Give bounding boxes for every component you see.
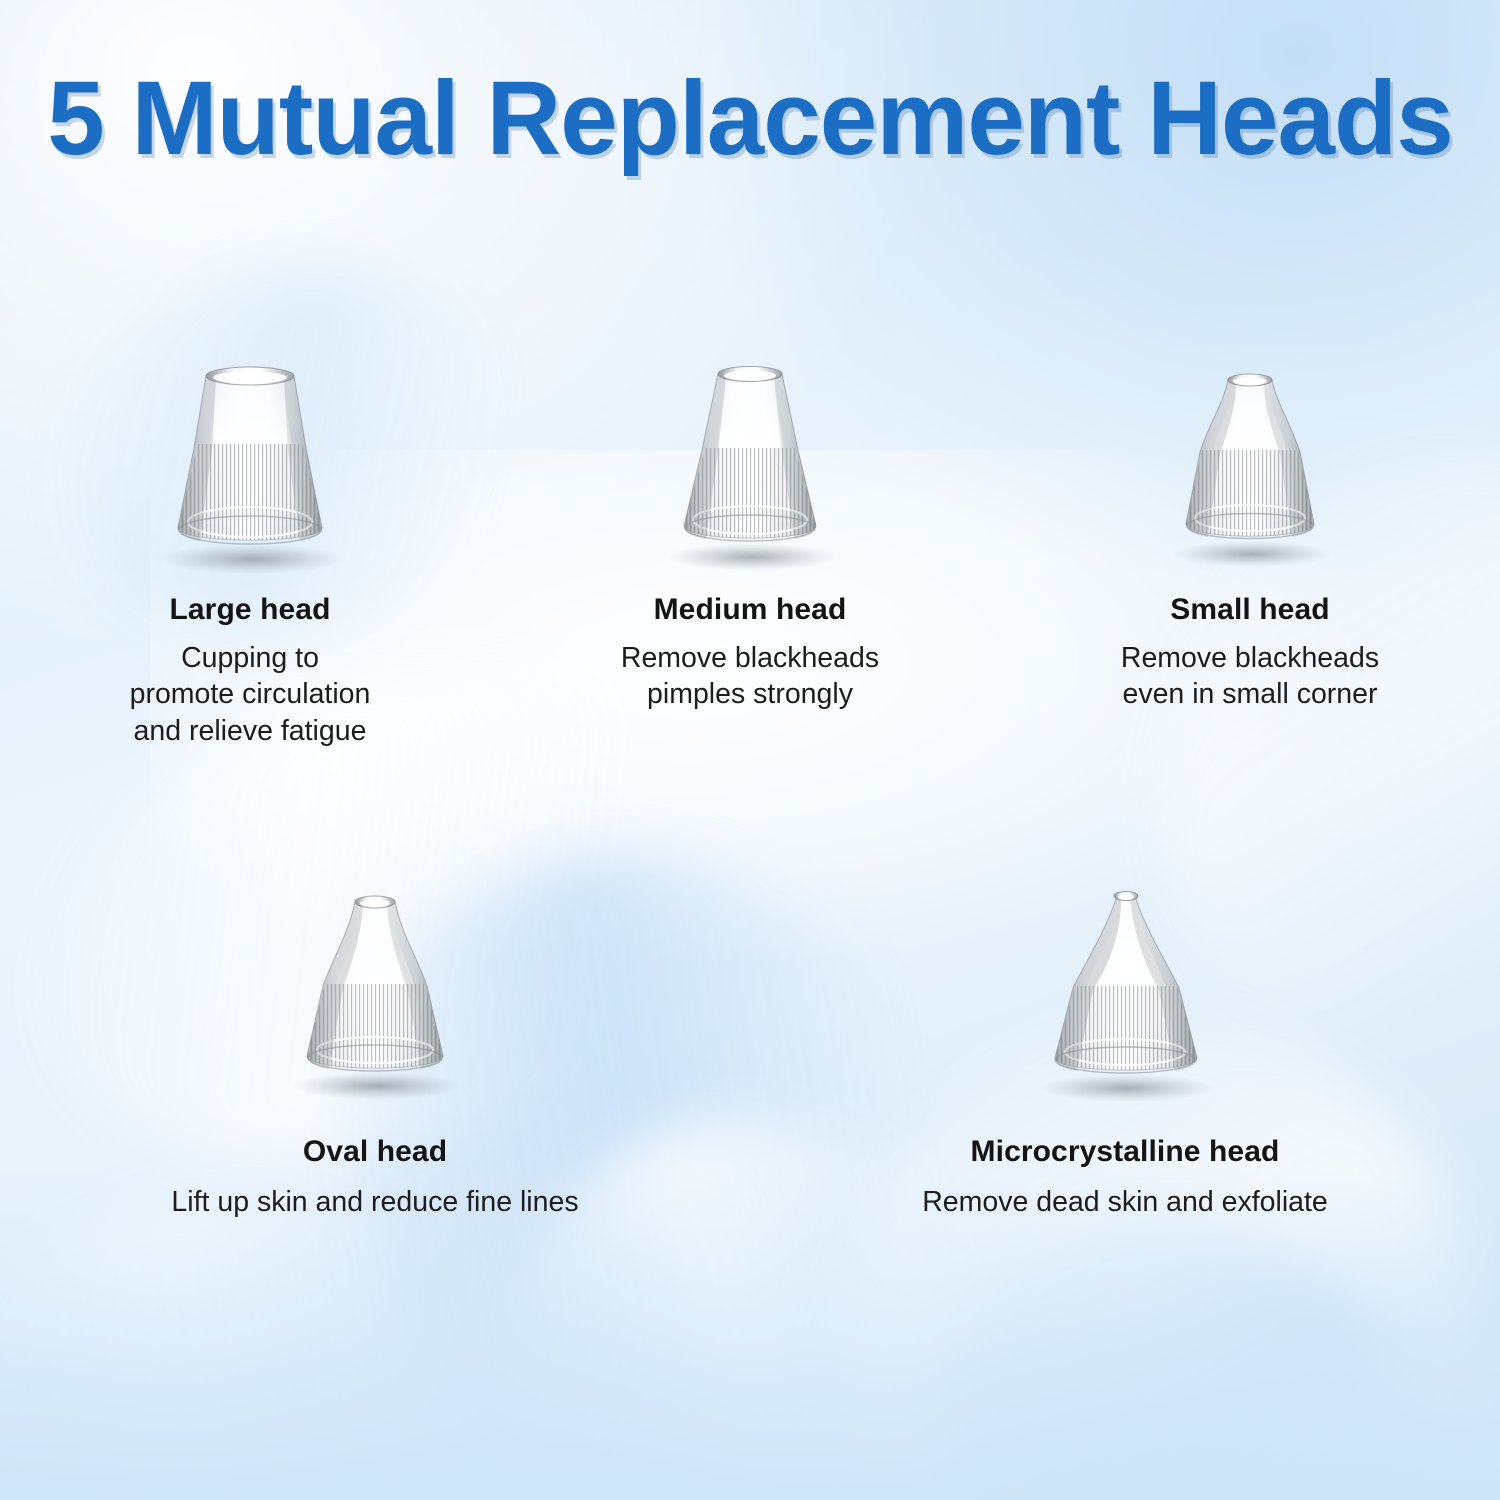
head-card-oval: Oval head Lift up skin and reduce fine l… [0, 862, 750, 1220]
head-card-large: Large head Cupping to promote circulatio… [0, 330, 500, 749]
medium-head-description: Remove blackheads pimples strongly [621, 640, 879, 713]
large-head-caption: Large head Cupping to promote circulatio… [130, 592, 371, 749]
head-row-top: Large head Cupping to promote circulatio… [0, 330, 1500, 749]
microcrystalline-head-description: Remove dead skin and exfoliate [922, 1184, 1328, 1220]
head-card-medium: Medium head Remove blackheads pimples st… [500, 330, 1000, 749]
head-card-microcrystalline: Microcrystalline head Remove dead skin a… [750, 862, 1500, 1220]
small-head-image [1110, 330, 1390, 580]
large-head-title: Large head [130, 592, 371, 628]
microcrystalline-head-caption: Microcrystalline head Remove dead skin a… [922, 1134, 1328, 1220]
small-head-title: Small head [1121, 592, 1379, 628]
medium-head-caption: Medium head Remove blackheads pimples st… [621, 592, 879, 713]
small-head-caption: Small head Remove blackheads even in sma… [1121, 592, 1379, 713]
oval-head-title: Oval head [171, 1134, 578, 1170]
small-head-description: Remove blackheads even in small corner [1121, 640, 1379, 713]
large-head-description: Cupping to promote circulation and relie… [130, 640, 371, 749]
medium-head-title: Medium head [621, 592, 879, 628]
microcrystalline-head-image [985, 862, 1265, 1112]
head-card-small: Small head Remove blackheads even in sma… [1000, 330, 1500, 749]
medium-head-image [610, 330, 890, 580]
page-title: 5 Mutual Replacement Heads [11, 62, 1489, 175]
microcrystalline-head-title: Microcrystalline head [922, 1134, 1328, 1170]
head-row-bottom: Oval head Lift up skin and reduce fine l… [0, 862, 1500, 1220]
large-head-image [110, 330, 390, 580]
infographic-page: Large head Cupping to promote circulatio… [0, 0, 1500, 1500]
oval-head-description: Lift up skin and reduce fine lines [171, 1184, 578, 1220]
oval-head-image [235, 862, 515, 1112]
oval-head-caption: Oval head Lift up skin and reduce fine l… [171, 1134, 578, 1220]
